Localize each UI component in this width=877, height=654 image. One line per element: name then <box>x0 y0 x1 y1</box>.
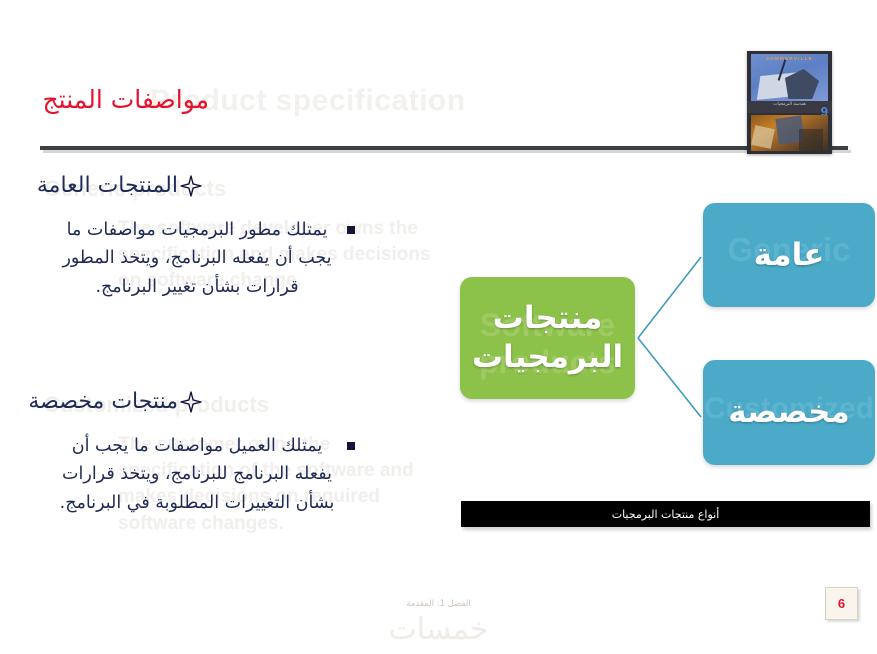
square-bullet-icon <box>347 226 355 234</box>
diagram-node-root-label: منتجات البرمجيات <box>460 299 635 377</box>
page-title: مواصفات المنتج <box>43 85 209 114</box>
watermark: خمسات <box>0 612 877 647</box>
book-band-caption: هندسة البرمجيات <box>747 102 832 107</box>
section-2-bullet: يمتلك العميل مواصفات ما يجب أن يفعله الب… <box>57 432 355 517</box>
diagram-caption-bar: أنواع منتجات البرمجيات <box>461 501 870 527</box>
software-products-diagram: Software products منتجات البرمجيات Gener… <box>455 195 875 485</box>
diagram-node-generic[interactable]: Generic عامة <box>703 203 875 307</box>
star-bullet-icon <box>180 175 202 197</box>
section-1-heading: المنتجات العامة <box>37 172 202 200</box>
diagram-node-customized-label: مخصصة <box>728 393 849 432</box>
book-author-label: SOMMERVILLE <box>747 56 832 61</box>
diagram-node-generic-label: عامة <box>754 236 825 275</box>
section-1-bullet: يمتلك مطور البرمجيات مواصفات ما يجب أن ي… <box>57 216 355 301</box>
page-number-badge: 6 <box>825 587 858 620</box>
square-bullet-icon <box>347 442 355 450</box>
diagram-node-customized[interactable]: Customized مخصصة <box>703 360 875 465</box>
book-cover-bottom-art <box>751 115 828 151</box>
book-cover-top-art <box>751 54 828 101</box>
section-1-body-text: يمتلك مطور البرمجيات مواصفات ما يجب أن ي… <box>57 216 337 301</box>
section-1-heading-label: المنتجات العامة <box>37 172 178 200</box>
section-2-heading: منتجات مخصصة <box>28 388 202 416</box>
page-number: 6 <box>838 596 845 611</box>
title-divider <box>40 146 848 150</box>
diagram-node-software-products[interactable]: Software products منتجات البرمجيات <box>460 277 635 399</box>
title-rule-shadow <box>43 150 851 153</box>
section-2-heading-label: منتجات مخصصة <box>28 388 178 416</box>
section-2-body-text: يمتلك العميل مواصفات ما يجب أن يفعله الب… <box>57 432 337 517</box>
star-bullet-icon <box>180 391 202 413</box>
diagram-caption-text: أنواع منتجات البرمجيات <box>612 508 720 521</box>
slide-footer: الفصل 1: المقدمة <box>0 599 877 609</box>
slide-body-column: Generic products The software developer … <box>0 168 460 598</box>
slide-canvas: Product specification مواصفات المنتج SOM… <box>0 0 877 654</box>
book-cover-thumbnail: SOMMERVILLE هندسة البرمجيات 9 <box>747 51 832 154</box>
